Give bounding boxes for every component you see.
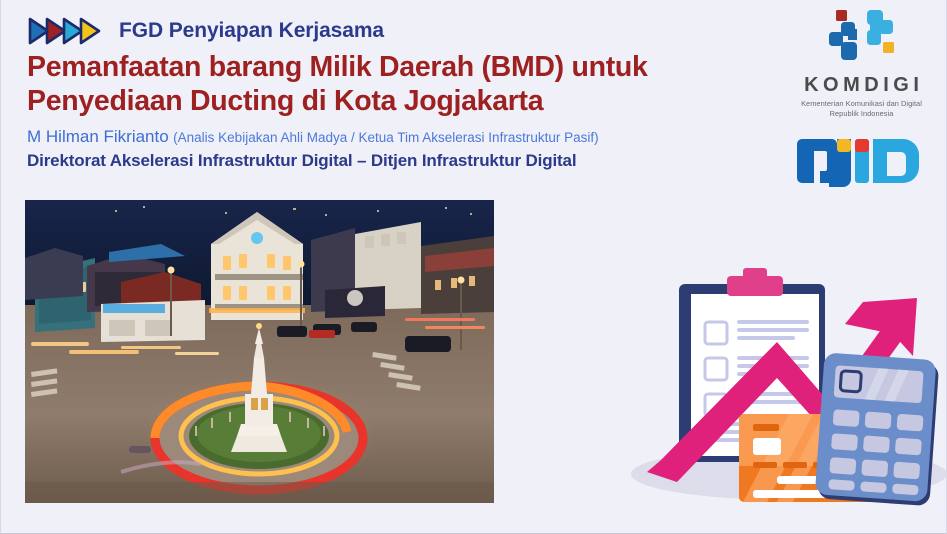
chevron-arrow-cluster-icon [27,15,107,47]
slide-title-line-2: Penyediaan Ducting di Kota Jogjakarta [27,85,797,119]
komdigi-wordmark: KOMDIGI [789,74,934,97]
eyebrow-row: FGD Penyiapan Kerjasama [27,14,797,48]
komdigi-subtitle-line-1: Kementerian Komunikasi dan Digital [789,99,934,109]
author-name: M Hilman Fikrianto [27,127,169,146]
directorate-line: Direktorat Akselerasi Infrastruktur Digi… [27,151,797,171]
illustration-content [617,262,947,510]
slide-title: Pemanfaatan barang Milik Daerah (BMD) un… [27,51,797,119]
finance-growth-illustration [617,262,947,510]
slide-title-line-1: Pemanfaatan barang Milik Daerah (BMD) un… [27,51,797,85]
calculator [815,352,940,506]
komdigi-logo: KOMDIGI Kementerian Komunikasi dan Digit… [789,8,934,119]
tugu-jogja-night-photo [25,200,494,503]
photo-content [25,200,494,503]
djid-logo-icon [796,133,924,189]
author-line: M Hilman Fikrianto (Analis Kebijakan Ahl… [27,127,797,147]
djid-logo [796,133,924,194]
komdigi-subtitle-line-2: Republik Indonesia [789,109,934,119]
slide-eyebrow: FGD Penyiapan Kerjasama [119,19,384,43]
komdigi-mark-icon [823,8,901,70]
komdigi-subtitle: Kementerian Komunikasi dan Digital Repub… [789,99,934,119]
author-role: (Analis Kebijakan Ahli Madya / Ketua Tim… [173,130,598,145]
slide-header: FGD Penyiapan Kerjasama Pemanfaatan bara… [27,14,797,171]
